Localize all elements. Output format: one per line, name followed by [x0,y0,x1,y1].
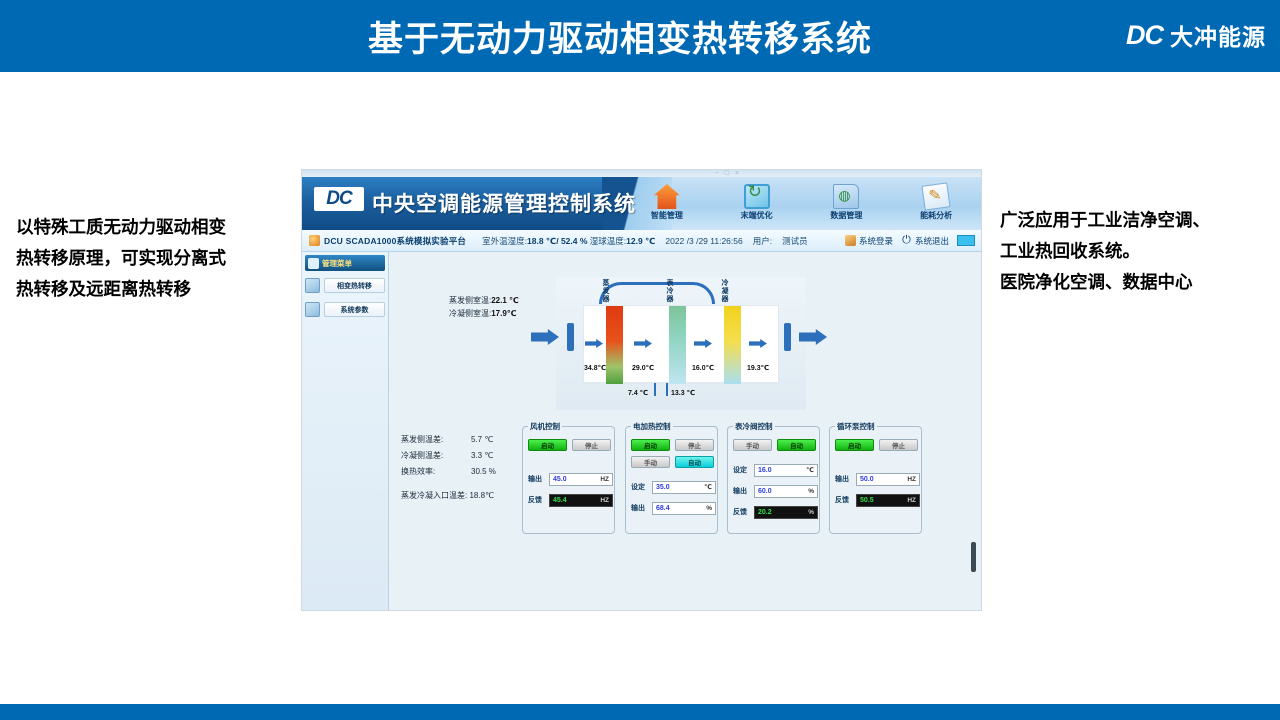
valve-feedback-label: 反馈 [733,507,751,517]
evap-room-temp-label: 蒸发侧室温: [449,296,491,305]
cooling-coil [669,306,686,384]
cond-room-temp-row: 冷凝侧室温:17.9℃ [449,307,519,320]
fan-feedback-field: 45.4 HZ [549,494,613,507]
vertical-scrollbar[interactable] [971,542,976,572]
sidebar-item-label-1: 系统参数 [324,302,385,317]
valve-output-label: 输出 [733,486,751,496]
caption-left-line-1: 以特殊工质无动力驱动相变 [16,212,284,243]
pump-button-row: 启动 停止 [835,439,918,451]
stat-value-3: 18.8℃ [469,491,494,500]
heater-stop-button[interactable]: 停止 [675,439,714,451]
slide-header: 基于无动力驱动相变热转移系统 DC 大冲能源 [0,0,1280,72]
flow-arrow-1 [585,339,603,348]
stage-temp-3: 16.0℃ [692,364,714,372]
system-datetime: 2022 /3 /29 11:26:56 [665,236,742,246]
coil-label-condenser: 冷凝器 [719,279,729,303]
user-icon [845,235,856,246]
caption-right: 广泛应用于工业洁净空调、 工业热回收系统。 医院净化空调、数据中心 [1000,205,1272,298]
pump-stop-button[interactable]: 停止 [879,439,918,451]
heater-setpoint-unit: ℃ [704,483,712,491]
heater-output-label: 输出 [631,503,649,513]
performance-stats: 蒸发侧温差:5.7 ℃ 冷凝侧温差:3.3 ℃ 换热效率:30.5 % 蒸发冷凝… [401,432,496,504]
coil-label-evaporator: 蒸发器 [600,279,610,303]
heater-setpoint-value: 35.0 [656,484,670,491]
fan-feedback-label: 反馈 [528,495,546,505]
caption-right-line-1: 广泛应用于工业洁净空调、 [1000,205,1272,236]
stat-label-3: 蒸发冷凝入口温差: [401,488,467,504]
logout-button[interactable]: ⏻ 系统退出 [901,235,949,247]
nav-item-intelligent[interactable]: 智能管理 [630,181,704,221]
sidebar-header-label: 管理菜单 [322,258,352,269]
scada-main: 蒸发侧室温:22.1 ℃ 冷凝侧室温:17.9℃ 蒸发器 表冷器 冷凝器 [389,252,981,610]
module-icon [305,302,320,317]
platform-name: DCU SCADA1000系统模拟实验平台 [324,235,466,247]
nav-item-data-management[interactable]: 数据管理 [809,181,883,221]
stat-value-1: 3.3 ℃ [471,451,493,460]
scada-screenshot: − □ × DC 中央空调能源管理控制系统 智能管理 末端优化 数据管理 [302,170,981,610]
slide-footer [0,704,1280,720]
stat-value-2: 30.5 % [471,467,496,476]
fan-start-button[interactable]: 启动 [528,439,567,451]
fan-feedback-unit: HZ [600,497,609,504]
coil-label-cooling: 表冷器 [664,279,674,303]
stat-row-3: 蒸发冷凝入口温差: 18.8℃ [401,488,496,504]
flow-arrow-4 [749,339,767,348]
cond-room-temp-label: 冷凝侧室温: [449,309,491,318]
login-button[interactable]: 系统登录 [845,235,893,247]
caption-left-line-3: 热转移及远距离热转移 [16,274,284,305]
valve-feedback-field: 20.2 % [754,506,818,519]
control-group-heater: 电加热控制 启动 停止 手动 自动 设定 35.0 ℃ 输出 [625,426,718,534]
stat-row-1: 冷凝侧温差:3.3 ℃ [401,448,496,464]
pump-feedback-unit: HZ [907,497,916,504]
heater-setpoint-field[interactable]: 35.0 ℃ [652,481,716,494]
fan-output-row: 输出 45.0 HZ [528,472,613,486]
user-label: 用户: [753,235,772,247]
pump-feedback-label: 反馈 [835,495,853,505]
pump-feedback-value: 50.5 [860,497,874,504]
caption-left-line-2: 热转移原理，可实现分离式 [16,243,284,274]
evaporator-coil [606,306,623,384]
air-outlet-arrow [799,329,827,345]
platform-icon [309,235,320,246]
sidebar-item-phase-change[interactable]: 相变热转移 [305,276,385,295]
heater-button-row-1: 启动 停止 [631,439,714,451]
module-icon [305,278,320,293]
chart-icon [922,182,951,210]
logout-label: 系统退出 [915,235,949,247]
stat-row-2: 换热效率:30.5 % [401,464,496,480]
heater-auto-button[interactable]: 自动 [675,456,714,468]
bottom-temp-2: 13.3 ℃ [671,389,695,397]
airflow-duct: 34.8℃ 29.0℃ 16.0℃ 19.3℃ [583,305,779,383]
app-logo-badge: DC [314,187,364,211]
user-value: 测试员 [782,235,808,247]
nav-item-energy-analysis[interactable]: 能耗分析 [899,181,973,221]
menu-icon [308,258,319,269]
control-title-pump: 循环泵控制 [835,421,877,432]
wetbulb-value: 12.9 ℃ [626,236,655,246]
system-schematic: 蒸发器 表冷器 冷凝器 34.8℃ 29.0℃ 16.0℃ 19.3℃ [556,277,806,410]
heater-output-row: 输出 68.4 % [631,501,716,515]
valve-setpoint-unit: ℃ [806,466,814,474]
wetbulb-label: 湿球温度: [590,236,626,246]
valve-setpoint-value: 16.0 [758,467,772,474]
stat-label-0: 蒸发侧温差: [401,432,471,448]
cond-room-temp-value: 17.9℃ [491,309,516,318]
pump-start-button[interactable]: 启动 [835,439,874,451]
sidebar-header: 管理菜单 [305,255,385,271]
valve-auto-button[interactable]: 自动 [777,439,816,451]
pump-output-label: 输出 [835,474,853,484]
nav-item-terminal-optimize[interactable]: 末端优化 [720,181,794,221]
stage-temp-2: 29.0℃ [632,364,654,372]
pump-feedback-row: 反馈 50.5 HZ [835,493,920,507]
caption-right-line-2: 工业热回收系统。 [1000,236,1272,267]
sidebar-item-label-0: 相变热转移 [324,278,385,293]
heater-button-row-2: 手动 自动 [631,456,714,468]
control-group-fan: 风机控制 启动 停止 输出 45.0 HZ 反馈 45.4 HZ [522,426,615,534]
status-toolbar: DCU SCADA1000系统模拟实验平台 室外温湿度:18.8 ℃/ 52.4… [302,230,981,252]
caption-right-line-3: 医院净化空调、数据中心 [1000,267,1272,298]
nav-label-3: 能耗分析 [920,210,952,221]
outdoor-label: 室外温湿度: [482,236,527,246]
control-group-pump: 循环泵控制 启动 停止 输出 50.0 HZ 反馈 50.5 HZ [829,426,922,534]
heater-start-button[interactable]: 启动 [631,439,670,451]
transfer-loop-arc [599,282,715,304]
valve-button-row: 手动 自动 [733,439,816,451]
valve-feedback-row: 反馈 20.2 % [733,505,818,519]
login-label: 系统登录 [859,235,893,247]
inlet-cap [567,323,574,351]
bottom-temp-1: 7.4 ℃ [628,389,648,397]
valve-output-row: 输出 60.0 % [733,484,818,498]
stat-label-2: 换热效率: [401,464,471,480]
fan-button-row: 启动 停止 [528,439,611,451]
valve-output-field[interactable]: 60.0 % [754,485,818,498]
fan-feedback-row: 反馈 45.4 HZ [528,493,613,507]
valve-feedback-unit: % [808,509,814,516]
app-title: 中央空调能源管理控制系统 [372,188,636,218]
pump-output-field[interactable]: 50.0 HZ [856,473,920,486]
stat-label-1: 冷凝侧温差: [401,448,471,464]
pump-feedback-field: 50.5 HZ [856,494,920,507]
scada-sidebar: 管理菜单 相变热转移 系统参数 [302,252,389,610]
control-group-cooling-valve: 表冷阀控制 手动 自动 设定 16.0 ℃ 输出 60.0 % [727,426,820,534]
stage-temp-4: 19.3℃ [747,364,769,372]
pump-output-unit: HZ [907,476,916,483]
power-icon: ⏻ [901,235,912,246]
nav-label-2: 数据管理 [830,210,862,221]
stat-row-0: 蒸发侧温差:5.7 ℃ [401,432,496,448]
outdoor-temp: 18.8 ℃/ [527,236,559,246]
evap-room-temp-row: 蒸发侧室温:22.1 ℃ [449,294,519,307]
heater-output-value: 68.4 [656,505,670,512]
heater-setpoint-label: 设定 [631,482,649,492]
condenser-coil [724,306,741,384]
valve-feedback-value: 20.2 [758,509,772,516]
control-title-fan: 风机控制 [528,421,562,432]
room-temperature-readout: 蒸发侧室温:22.1 ℃ 冷凝侧室温:17.9℃ [449,294,519,320]
valve-output-unit: % [808,488,814,495]
valve-manual-button[interactable]: 手动 [733,439,772,451]
air-inlet-arrow [531,329,559,345]
fan-feedback-value: 45.4 [553,497,567,504]
caption-left: 以特殊工质无动力驱动相变 热转移原理，可实现分离式 热转移及远距离热转移 [16,212,284,305]
pump-output-value: 50.0 [860,476,874,483]
outdoor-readout: 室外温湿度:18.8 ℃/ 52.4 % 湿球温度:12.9 ℃ [482,235,655,247]
heater-output-field[interactable]: 68.4 % [652,502,716,515]
valve-setpoint-field[interactable]: 16.0 ℃ [754,464,818,477]
bottom-tick-2 [666,383,668,396]
fan-output-label: 输出 [528,474,546,484]
outlet-cap [784,323,791,351]
valve-setpoint-label: 设定 [733,465,751,475]
nav-label-0: 智能管理 [651,210,683,221]
bottom-tick-1 [654,383,656,396]
sidebar-item-system-params[interactable]: 系统参数 [305,300,385,319]
logo-name: 大冲能源 [1170,18,1266,52]
flow-arrow-2 [634,339,652,348]
page-title: 基于无动力驱动相变热转移系统 [0,0,1280,72]
fan-output-value: 45.0 [553,476,567,483]
top-nav: 智能管理 末端优化 数据管理 能耗分析 [622,181,981,230]
fan-stop-button[interactable]: 停止 [572,439,611,451]
stage-temp-1: 34.8℃ [584,364,606,372]
logo-mark: DC [1126,20,1163,51]
heater-output-unit: % [706,505,712,512]
window-controls[interactable]: − □ × [715,170,741,177]
heater-setpoint-row: 设定 35.0 ℃ [631,480,716,494]
valve-output-value: 60.0 [758,488,772,495]
status-chip [957,235,975,246]
heater-manual-button[interactable]: 手动 [631,456,670,468]
pump-output-row: 输出 50.0 HZ [835,472,920,486]
outdoor-rh: 52.4 % [561,236,587,246]
app-banner: DC 中央空调能源管理控制系统 智能管理 末端优化 数据管理 能耗分析 [302,177,981,230]
control-title-cooling-valve: 表冷阀控制 [733,421,775,432]
nav-label-1: 末端优化 [741,210,773,221]
fan-output-unit: HZ [600,476,609,483]
evap-room-temp-value: 22.1 ℃ [491,296,518,305]
valve-setpoint-row: 设定 16.0 ℃ [733,463,818,477]
sync-icon [744,184,770,209]
flow-arrow-3 [694,339,712,348]
slide-root: 基于无动力驱动相变热转移系统 DC 大冲能源 以特殊工质无动力驱动相变 热转移原… [0,0,1280,720]
fan-output-field[interactable]: 45.0 HZ [549,473,613,486]
control-title-heater: 电加热控制 [631,421,673,432]
company-logo: DC 大冲能源 [1126,18,1266,52]
folder-icon [833,184,859,209]
stat-value-0: 5.7 ℃ [471,435,493,444]
home-icon [654,184,680,209]
